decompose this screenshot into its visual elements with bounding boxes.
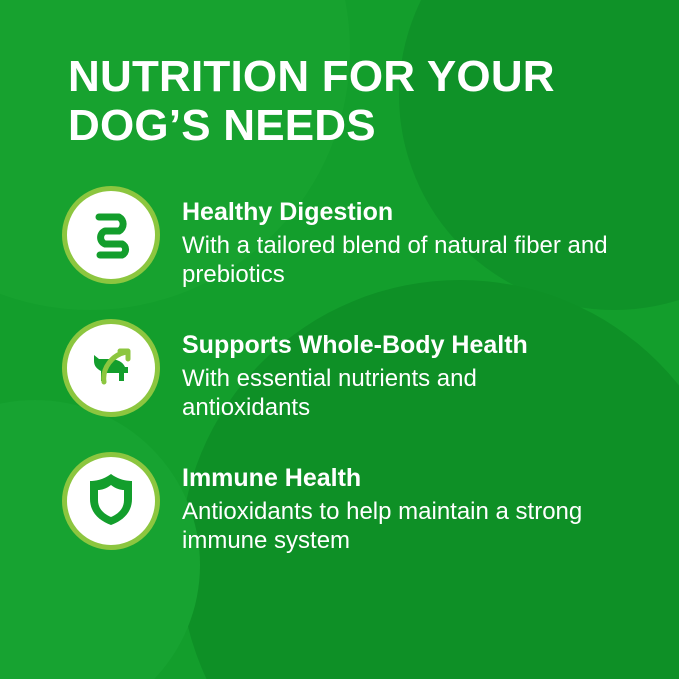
benefit-text: Supports Whole-Body Health With essentia… [182, 319, 582, 422]
shield-icon-badge [62, 452, 160, 550]
intestine-icon [81, 203, 141, 268]
list-item: Healthy Digestion With a tailored blend … [62, 186, 662, 289]
benefit-title: Healthy Digestion [182, 198, 612, 228]
benefit-list: Healthy Digestion With a tailored blend … [62, 186, 662, 585]
benefit-description: With a tailored blend of natural fiber a… [182, 231, 612, 290]
intestine-icon-badge [62, 186, 160, 284]
dog-whole-body-icon-badge [62, 319, 160, 417]
shield-icon [82, 468, 140, 535]
list-item: Immune Health Antioxidants to help maint… [62, 452, 662, 555]
benefit-description: With essential nutrients and antioxidant… [182, 364, 582, 423]
benefit-description: Antioxidants to help maintain a strong i… [182, 497, 597, 556]
page-title: NUTRITION FOR YOUR DOG’S NEEDS [68, 52, 628, 151]
benefit-text: Healthy Digestion With a tailored blend … [182, 186, 612, 289]
benefit-title: Supports Whole-Body Health [182, 331, 582, 361]
benefit-text: Immune Health Antioxidants to help maint… [182, 452, 597, 555]
dog-whole-body-icon [80, 335, 142, 402]
benefit-title: Immune Health [182, 464, 597, 494]
list-item: Supports Whole-Body Health With essentia… [62, 319, 662, 422]
nutrition-poster: NUTRITION FOR YOUR DOG’S NEEDS Healthy D… [0, 0, 679, 679]
